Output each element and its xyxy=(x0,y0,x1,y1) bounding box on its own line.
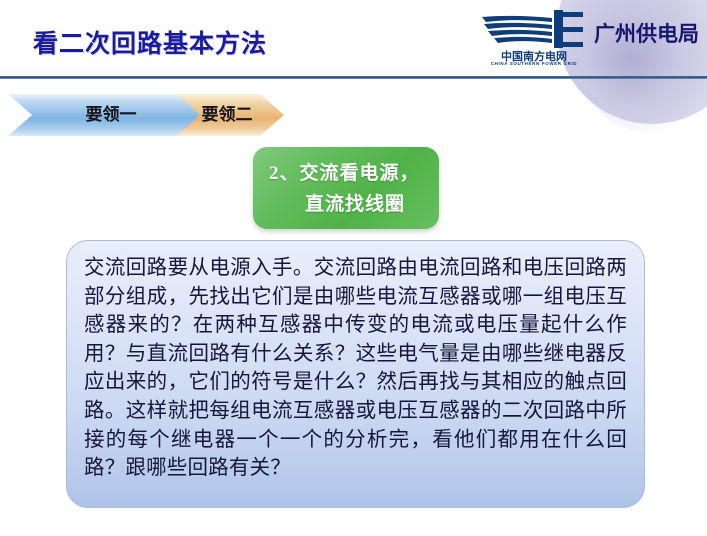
slide-canvas: 看二次回路基本方法 中国南方电网 CHINA SOUTHERN POWER GR… xyxy=(0,0,707,536)
body-paragraph: 交流回路要从电源入手。交流回路由电流回路和电压回路两部分组成，先找出它们是由哪些… xyxy=(84,254,627,483)
tab-yaoling-yi[interactable]: 要领一 xyxy=(8,94,200,136)
tab-yaoling-yi-label: 要领一 xyxy=(22,94,200,136)
page-title: 看二次回路基本方法 xyxy=(33,24,267,60)
callout-green-box: 2、交流看电源， 直流找线圈 xyxy=(253,147,439,229)
callout-line-1: 2、交流看电源， xyxy=(263,158,429,189)
bureau-name: 广州供电局 xyxy=(594,18,699,48)
body-text-box: 交流回路要从电源入手。交流回路由电流回路和电压回路两部分组成，先找出它们是由哪些… xyxy=(66,240,645,508)
callout-line-2: 直流找线圈 xyxy=(263,189,429,220)
brand-logo-block: 中国南方电网 CHINA SOUTHERN POWER GRID 广州供电局 xyxy=(478,6,703,72)
header-divider xyxy=(0,76,707,79)
power-grid-logo-icon xyxy=(478,8,588,50)
logo-company-name-en: CHINA SOUTHERN POWER GRID xyxy=(482,61,586,66)
